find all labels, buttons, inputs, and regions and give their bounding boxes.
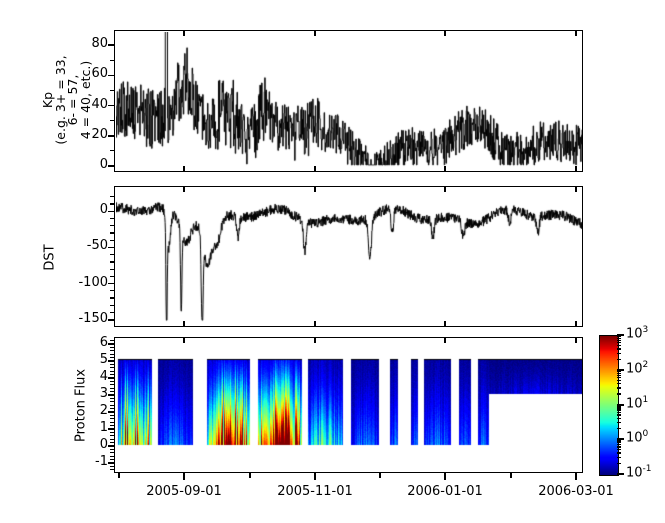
- axis-tick: [110, 297, 114, 298]
- axis-tick-label: 60: [68, 66, 108, 81]
- axis-tick: [110, 254, 114, 255]
- axis-tick: [617, 446, 621, 447]
- axis-tick: [617, 359, 621, 360]
- axis-tick-label: 20: [68, 127, 108, 142]
- axis-tick: [110, 218, 114, 219]
- axis-tick: [314, 321, 315, 327]
- axis-tick: [108, 44, 114, 46]
- axis-tick: [110, 449, 114, 450]
- axis-tick-label: -150: [64, 311, 108, 326]
- axis-tick: [110, 276, 114, 277]
- axis-tick-label: 2006-03-01: [526, 484, 626, 499]
- axis-tick: [110, 398, 114, 399]
- axis-tick: [110, 374, 114, 375]
- axis-tick: [110, 388, 114, 389]
- axis-tick: [183, 473, 185, 480]
- axis-tick-label: 0: [64, 202, 108, 217]
- axis-tick: [575, 186, 576, 192]
- axis-tick: [110, 432, 114, 433]
- axis-tick: [118, 473, 119, 478]
- axis-tick: [110, 459, 114, 460]
- axis-tick: [110, 350, 114, 351]
- axis-tick-label: 5: [72, 352, 108, 367]
- axis-tick: [617, 442, 621, 443]
- axis-tick-label: 3: [72, 386, 108, 401]
- axis-tick: [617, 412, 621, 413]
- dst-axis-label: DST: [43, 238, 58, 278]
- axis-tick: [617, 336, 621, 337]
- axis-tick: [110, 469, 114, 470]
- axis-tick: [617, 348, 621, 349]
- colorbar-tick-label: 102: [626, 360, 648, 376]
- axis-tick: [110, 312, 114, 313]
- axis-tick: [110, 232, 114, 233]
- axis-tick: [110, 408, 114, 409]
- axis-tick: [575, 30, 576, 36]
- axis-tick-label: 2005-11-01: [265, 484, 365, 499]
- axis-tick: [110, 445, 114, 446]
- axis-tick-label: 1: [72, 420, 108, 435]
- axis-tick: [110, 439, 114, 440]
- kp-series-canvas: [116, 32, 582, 171]
- axis-tick: [617, 340, 621, 341]
- axis-tick: [183, 337, 184, 343]
- axis-tick: [110, 452, 114, 453]
- axis-tick: [108, 165, 114, 167]
- axis-tick: [110, 343, 114, 344]
- axis-tick: [444, 166, 445, 172]
- axis-tick-label: -100: [64, 275, 108, 290]
- axis-tick: [444, 337, 445, 343]
- axis-tick: [110, 425, 114, 426]
- axis-tick: [110, 394, 114, 395]
- axis-tick: [110, 405, 114, 406]
- axis-tick: [617, 375, 621, 376]
- axis-tick: [110, 462, 114, 463]
- axis-tick: [575, 166, 576, 172]
- axis-tick: [110, 290, 114, 291]
- dst-series-canvas: [116, 188, 582, 326]
- axis-tick: [617, 405, 621, 406]
- axis-tick: [617, 422, 621, 423]
- axis-tick: [108, 75, 114, 77]
- axis-tick: [444, 321, 445, 327]
- axis-tick: [110, 196, 114, 197]
- axis-tick: [183, 321, 184, 327]
- axis-tick: [110, 261, 114, 262]
- axis-tick: [617, 407, 621, 408]
- axis-tick: [617, 452, 621, 453]
- axis-tick: [617, 463, 621, 464]
- axis-tick: [108, 105, 114, 107]
- axis-tick: [314, 30, 315, 36]
- axis-tick-label: 6: [72, 335, 108, 350]
- axis-tick: [617, 383, 621, 384]
- axis-tick: [575, 473, 577, 480]
- axis-tick: [110, 364, 114, 365]
- axis-tick: [110, 90, 114, 91]
- axis-tick: [110, 203, 114, 204]
- axis-tick: [575, 321, 576, 327]
- axis-tick: [110, 120, 114, 121]
- axis-tick: [110, 411, 114, 412]
- axis-tick: [110, 340, 114, 341]
- axis-tick: [110, 150, 114, 151]
- axis-tick: [108, 211, 114, 213]
- axis-tick-label: 2006-01-01: [395, 484, 495, 499]
- axis-tick: [444, 186, 445, 192]
- axis-tick: [110, 418, 114, 419]
- axis-tick: [617, 440, 621, 441]
- axis-tick: [617, 342, 621, 343]
- figure-canvas: Kp (e.g. 3+ = 33, 6- = 57, 4 = 40, etc.)…: [0, 0, 665, 523]
- axis-tick: [314, 337, 315, 343]
- axis-tick: [314, 186, 315, 192]
- axis-tick: [617, 409, 621, 410]
- axis-tick: [444, 30, 445, 36]
- axis-tick: [617, 393, 621, 394]
- axis-tick: [444, 473, 446, 480]
- axis-tick-label: 2005-09-01: [134, 484, 234, 499]
- axis-tick: [617, 373, 621, 374]
- colorbar-tick-label: 100: [626, 429, 648, 445]
- axis-tick: [108, 247, 114, 249]
- colorbar-tick-label: 101: [626, 395, 648, 411]
- axis-tick: [110, 381, 114, 382]
- axis-tick: [110, 391, 114, 392]
- axis-tick: [617, 473, 624, 475]
- axis-tick: [617, 414, 621, 415]
- axis-tick-label: 4: [72, 369, 108, 384]
- axis-tick: [617, 345, 621, 346]
- axis-tick: [617, 449, 621, 450]
- axis-tick: [108, 135, 114, 137]
- axis-tick: [617, 428, 621, 429]
- axis-tick: [110, 377, 114, 378]
- axis-tick: [110, 357, 114, 358]
- axis-tick: [110, 60, 114, 61]
- axis-tick: [110, 305, 114, 306]
- axis-tick: [110, 240, 114, 241]
- axis-tick: [379, 473, 380, 478]
- axis-tick: [110, 371, 114, 372]
- axis-tick: [110, 415, 114, 416]
- axis-tick: [249, 473, 250, 478]
- axis-tick: [183, 30, 184, 36]
- colorbar-tick-label: 10-1: [626, 464, 652, 480]
- axis-tick: [183, 186, 184, 192]
- axis-tick: [617, 380, 621, 381]
- axis-tick: [110, 384, 114, 385]
- axis-tick-label: 0: [72, 437, 108, 452]
- axis-tick: [110, 466, 114, 467]
- axis-tick: [617, 418, 621, 419]
- axis-tick: [183, 166, 184, 172]
- axis-tick: [314, 473, 316, 480]
- axis-tick: [110, 225, 114, 226]
- axis-tick: [110, 456, 114, 457]
- colorbar-tick-label: 103: [626, 325, 648, 341]
- axis-tick-label: -1: [72, 454, 108, 469]
- axis-tick: [110, 360, 114, 361]
- axis-tick-label: 2: [72, 403, 108, 418]
- axis-tick: [110, 422, 114, 423]
- axis-tick: [110, 347, 114, 348]
- proton-flux-heatmap-canvas: [116, 339, 582, 472]
- axis-tick: [110, 354, 114, 355]
- axis-tick: [110, 428, 114, 429]
- axis-tick: [617, 387, 621, 388]
- axis-tick: [110, 367, 114, 368]
- axis-tick: [108, 319, 114, 321]
- axis-tick: [510, 473, 511, 478]
- axis-tick: [617, 377, 621, 378]
- axis-tick: [617, 457, 621, 458]
- axis-tick: [617, 371, 621, 372]
- axis-tick: [314, 166, 315, 172]
- colorbar-gradient: [599, 335, 619, 476]
- axis-tick: [617, 353, 621, 354]
- axis-tick: [108, 283, 114, 285]
- axis-tick: [575, 337, 576, 343]
- axis-tick-label: 40: [68, 97, 108, 112]
- axis-tick: [110, 435, 114, 436]
- axis-tick-label: 0: [68, 157, 108, 172]
- axis-tick: [617, 444, 621, 445]
- axis-tick: [110, 269, 114, 270]
- axis-tick: [617, 338, 621, 339]
- axis-tick-label: 80: [68, 36, 108, 51]
- axis-tick: [110, 442, 114, 443]
- axis-tick: [110, 401, 114, 402]
- axis-tick-label: -50: [64, 238, 108, 253]
